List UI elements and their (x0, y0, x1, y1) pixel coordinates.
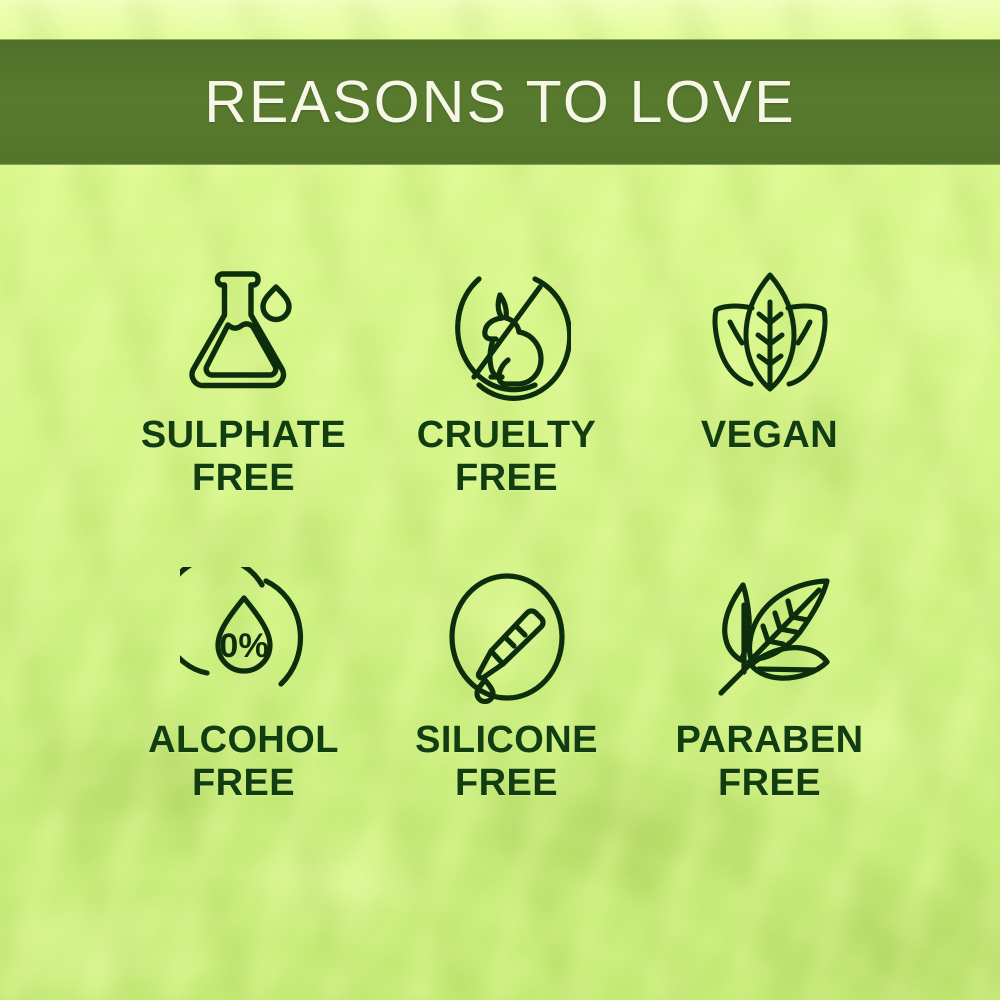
feature-cruelty-free: CRUELTY FREE (375, 262, 638, 500)
zero-percent-text: 0% (219, 627, 268, 665)
feature-alcohol-free: 0% ALCOHOL FREE (112, 567, 375, 805)
feature-sulphate-free: SULPHATE FREE (112, 262, 375, 500)
three-leaves-icon (706, 262, 834, 402)
no-animal-testing-icon (443, 262, 571, 402)
feature-label: PARABEN FREE (676, 719, 864, 805)
feature-label: CRUELTY FREE (417, 414, 596, 500)
dropper-pipette-icon (443, 567, 571, 707)
feature-silicone-free: SILICONE FREE (375, 567, 638, 805)
leaf-branch-icon (703, 567, 837, 707)
feature-paraben-free: PARABEN FREE (638, 567, 901, 805)
feature-label: SILICONE FREE (415, 719, 598, 805)
features-grid: SULPHATE FREE (112, 262, 902, 805)
page-title: REASONS TO LOVE (204, 68, 796, 136)
header-banner: REASONS TO LOVE (0, 40, 1000, 164)
feature-vegan: VEGAN (638, 262, 901, 500)
feature-label: SULPHATE FREE (141, 414, 346, 500)
zero-percent-droplet-icon: 0% (180, 567, 308, 707)
features-row-2: 0% ALCOHOL FREE (112, 567, 902, 805)
features-row-1: SULPHATE FREE (112, 262, 902, 500)
feature-label: ALCOHOL FREE (148, 719, 339, 805)
promo-graphic: REASONS TO LOVE SULPHATE (0, 0, 1000, 1000)
flask-drop-icon (179, 262, 309, 402)
feature-label: VEGAN (701, 414, 838, 457)
